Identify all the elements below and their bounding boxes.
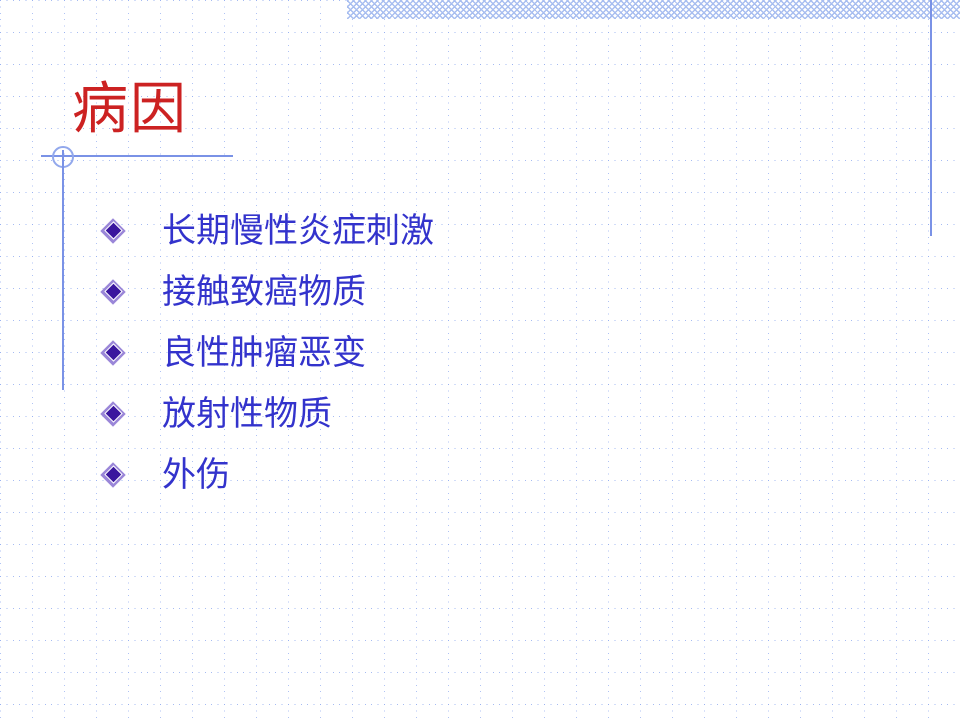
diamond-bullet-icon <box>96 458 130 492</box>
slide-canvas: 病因 长期慢性炎症刺激 接触致癌物质 良性肿瘤恶变 放射性 <box>0 0 960 720</box>
diamond-bullet-icon <box>96 275 130 309</box>
right-vertical-rule <box>930 0 932 236</box>
diamond-bullet-icon <box>96 397 130 431</box>
list-item: 良性肿瘤恶变 <box>96 322 896 383</box>
list-item-label: 放射性物质 <box>162 394 332 434</box>
hatched-banner <box>347 0 960 19</box>
list-item: 放射性物质 <box>96 383 896 444</box>
list-item-label: 长期慢性炎症刺激 <box>162 211 434 251</box>
list-item-label: 良性肿瘤恶变 <box>162 333 366 373</box>
list-item: 外伤 <box>96 444 896 505</box>
bullet-list: 长期慢性炎症刺激 接触致癌物质 良性肿瘤恶变 放射性物质 外伤 <box>96 200 896 505</box>
diamond-bullet-icon <box>96 336 130 370</box>
list-item-label: 接触致癌物质 <box>162 272 366 312</box>
page-title: 病因 <box>72 78 188 142</box>
list-item: 接触致癌物质 <box>96 261 896 322</box>
diamond-bullet-icon <box>96 214 130 248</box>
left-vertical-rule <box>62 150 64 390</box>
list-item-label: 外伤 <box>162 455 230 495</box>
list-item: 长期慢性炎症刺激 <box>96 200 896 261</box>
